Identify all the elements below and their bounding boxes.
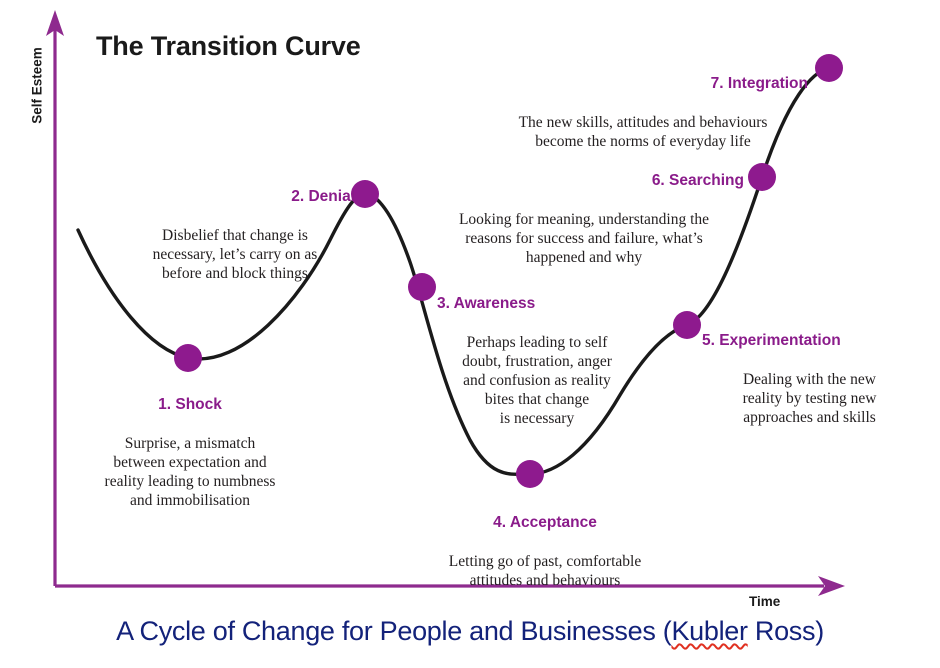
stage-title-shock: 1. Shock: [75, 395, 305, 416]
stage-description-denial: Disbelief that change is necessary, let’…: [115, 227, 355, 284]
stage-title-experimentation: 5. Experimentation: [702, 331, 917, 352]
stage-dot-denial[interactable]: [351, 180, 379, 208]
caption-text-after: Ross): [748, 616, 824, 646]
stage-label-experimentation: 5. Experimentation Dealing with the new …: [702, 312, 917, 447]
stage-dot-shock[interactable]: [174, 344, 202, 372]
stage-label-shock: 1. Shock Surprise, a mismatch between ex…: [75, 376, 305, 529]
stage-title-denial: 2. Denial: [115, 187, 355, 208]
stage-label-awareness: 3. Awareness Perhaps leading to self dou…: [437, 275, 637, 447]
stage-label-integration: 7. Integration The new skills, attitudes…: [478, 55, 808, 171]
stage-dot-acceptance[interactable]: [516, 460, 544, 488]
stage-description-experimentation: Dealing with the new reality by testing …: [702, 371, 917, 428]
stage-title-awareness: 3. Awareness: [437, 294, 637, 315]
stage-label-acceptance: 4. Acceptance Letting go of past, comfor…: [405, 494, 685, 610]
stage-label-denial: 2. Denial Disbelief that change is neces…: [115, 168, 355, 303]
stage-title-acceptance: 4. Acceptance: [405, 513, 685, 534]
stage-description-integration: The new skills, attitudes and behaviours…: [478, 114, 808, 152]
transition-curve-diagram: The Transition Curve Self Esteem Time 1.…: [0, 0, 940, 668]
stage-description-searching: Looking for meaning, understanding the r…: [424, 211, 744, 268]
stage-dot-experimentation[interactable]: [673, 311, 701, 339]
stage-dot-integration[interactable]: [815, 54, 843, 82]
stage-description-shock: Surprise, a mismatch between expectation…: [75, 435, 305, 511]
diagram-caption: A Cycle of Change for People and Busines…: [0, 616, 940, 647]
stage-title-integration: 7. Integration: [478, 74, 808, 95]
stage-description-acceptance: Letting go of past, comfortable attitude…: [405, 553, 685, 591]
y-axis: [46, 10, 64, 586]
caption-text-before: A Cycle of Change for People and Busines…: [116, 616, 671, 646]
caption-misspelled-word: Kubler: [671, 616, 747, 646]
page-title: The Transition Curve: [96, 31, 361, 62]
x-axis-label: Time: [749, 594, 780, 609]
stage-title-searching: 6. Searching: [424, 171, 744, 192]
stage-label-searching: 6. Searching Looking for meaning, unders…: [424, 152, 744, 287]
y-axis-label: Self Esteem: [30, 36, 45, 136]
stage-description-awareness: Perhaps leading to self doubt, frustrati…: [437, 334, 637, 429]
